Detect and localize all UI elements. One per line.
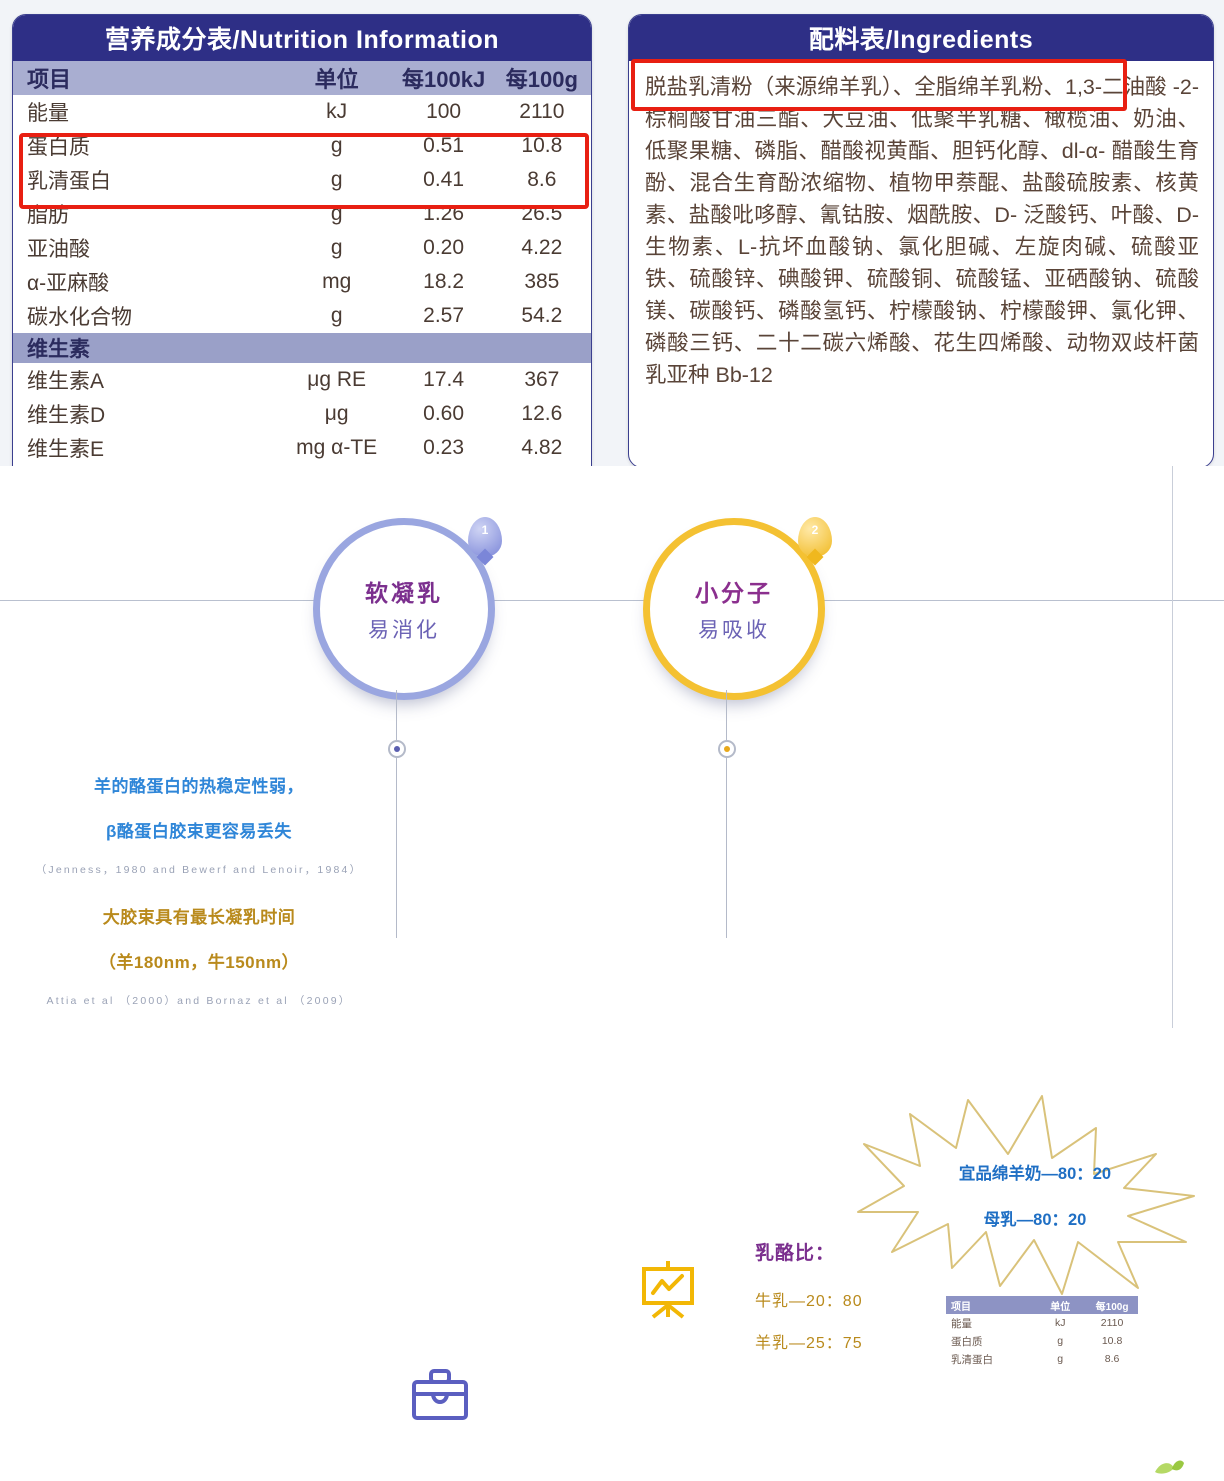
benefit-1-title: 软凝乳 [365,574,443,608]
stem-line-2 [726,690,727,744]
cell-item: 碳水化合物 [13,299,279,333]
research-citation-1: （Jenness，1980 and Bewerf and Lenoir，1984… [14,862,384,877]
cell-per100kj: 100 [394,95,492,129]
mini-table-header-row: 项目 单位 每100g [946,1296,1138,1314]
research-line-1: 羊的酪蛋白的热稳定性弱， [14,772,384,797]
pin-marker-2-number: 2 [812,523,819,537]
cell-per100kj: 17.4 [394,363,492,397]
cell-item: 脂肪 [13,197,279,231]
research-line-4: （羊180nm，牛150nm） [14,948,384,973]
mini-column-header-per100g: 每100g [1086,1296,1138,1314]
benefits-infographic-section: 软凝乳 易消化 1 小分子 易吸收 2 羊的酪蛋白的热稳定性弱， β酪蛋白胶束更… [0,466,1224,1028]
column-header-item: 项目 [13,61,279,95]
ingredients-panel: 配料表/Ingredients 脱盐乳清粉（来源绵羊乳）、全脂绵羊乳粉、1,3-… [628,14,1214,468]
mini-cell-item: 乳清蛋白 [946,1350,1034,1368]
starburst-text-group: 宜品绵羊奶—80：20 母乳—80：20 [856,1092,1196,1298]
research-text-block-left: 羊的酪蛋白的热稳定性弱， β酪蛋白胶束更容易丢失 （Jenness，1980 a… [14,772,384,1034]
benefit-ring-1: 软凝乳 易消化 1 [313,518,495,700]
nutrition-panel-title: 营养成分表/Nutrition Information [105,20,499,56]
cell-per100g: 2110 [493,95,591,129]
research-line-2: β酪蛋白胶束更容易丢失 [14,817,384,842]
nutrition-information-panel: 营养成分表/Nutrition Information 项目 单位 每100kJ… [12,14,592,468]
nutrition-table: 项目 单位 每100kJ 每100g 能量 kJ 100 2110 蛋白质 g … [13,61,591,468]
cell-unit: g [279,231,395,265]
benefit-2-title: 小分子 [695,574,773,608]
table-row: 亚油酸 g 0.20 4.22 [13,231,591,265]
column-header-per100g: 每100g [493,61,591,95]
pin-marker-1-number: 1 [482,523,489,537]
table-row: 能量 kJ 100 2110 [13,95,591,129]
starburst-line-breastmilk: 母乳—80：20 [984,1206,1087,1230]
cell-item: 维生素A [13,363,279,397]
table-row: 维生素E mg α-TE 0.23 4.82 [13,431,591,465]
stem-dot-1 [388,740,406,758]
cell-per100kj: 0.41 [394,163,492,197]
cell-per100g: 8.6 [493,163,591,197]
cell-per100kj: 0.51 [394,129,492,163]
briefcase-icon [408,1366,472,1429]
table-row: 碳水化合物 g 2.57 54.2 [13,299,591,333]
ingredients-list-text: 脱盐乳清粉（来源绵羊乳）、全脂绵羊乳粉、1,3-二油酸 -2- 棕榈酸甘油三酯、… [629,61,1213,391]
cell-per100kj: 0.60 [394,397,492,431]
cell-unit: g [279,129,395,163]
table-row: 脂肪 g 1.26 26.5 [13,197,591,231]
stem-line-1 [396,690,397,744]
cell-item: 乳清蛋白 [13,163,279,197]
cell-per100g: 4.82 [493,431,591,465]
cell-unit: kJ [279,95,395,129]
benefit-2-subtitle: 易吸收 [698,614,770,644]
mini-column-header-unit: 单位 [1034,1296,1086,1314]
cell-unit: μg [279,397,395,431]
cell-per100g: 4.22 [493,231,591,265]
mini-cell-item: 蛋白质 [946,1332,1034,1350]
leaf-watermark-icon [1152,1454,1186,1481]
cell-unit: g [279,163,395,197]
mini-cell-per100g: 10.8 [1086,1332,1138,1350]
nutrition-table-header-row: 项目 单位 每100kJ 每100g [13,61,591,95]
stem-line-1-lower [396,758,397,938]
vitamin-band-spacer-kj [394,333,492,363]
table-row: 乳清蛋白 g 0.41 8.6 [13,163,591,197]
stem-dot-2 [718,740,736,758]
presentation-chart-icon [637,1259,699,1326]
cell-unit: mg α-TE [279,431,395,465]
starburst-callout: 宜品绵羊奶—80：20 母乳—80：20 [856,1092,1196,1298]
cell-unit: g [279,197,395,231]
cell-per100g: 385 [493,265,591,299]
research-citation-2: Attia et al （2000）and Bornaz et al （2009… [14,993,384,1008]
mini-table-row: 蛋白质 g 10.8 [946,1332,1138,1350]
cell-item: 亚油酸 [13,231,279,265]
table-row: α-亚麻酸 mg 18.2 385 [13,265,591,299]
cell-per100kj: 18.2 [394,265,492,299]
cell-per100kj: 0.20 [394,231,492,265]
cell-unit: mg [279,265,395,299]
vitamin-band-spacer-g [493,333,591,363]
mini-cell-item: 能量 [946,1314,1034,1332]
mini-table-row: 能量 kJ 2110 [946,1314,1138,1332]
table-row: 维生素D μg 0.60 12.6 [13,397,591,431]
vitamin-section-band: 维生素 [13,333,591,363]
mini-table-row: 乳清蛋白 g 8.6 [946,1350,1138,1368]
cell-item: 维生素E [13,431,279,465]
nutrition-panel-title-bar: 营养成分表/Nutrition Information [13,15,591,61]
cell-item: 维生素D [13,397,279,431]
cell-per100g: 367 [493,363,591,397]
mini-cell-unit: kJ [1034,1314,1086,1332]
ratio-line-goat: 羊乳—25：75 [755,1329,935,1353]
research-line-3: 大胶束具有最长凝乳时间 [14,903,384,928]
cell-per100kj: 1.26 [394,197,492,231]
cell-per100g: 10.8 [493,129,591,163]
column-header-per100kj: 每100kJ [394,61,492,95]
cell-unit: μg RE [279,363,395,397]
cell-item: α-亚麻酸 [13,265,279,299]
pin-marker-1-icon: 1 [468,517,502,557]
mini-nutrition-table: 项目 单位 每100g 能量 kJ 2110 蛋白质 g 10.8 乳清蛋白 [946,1296,1138,1368]
ingredients-panel-title-bar: 配料表/Ingredients [629,15,1213,61]
cell-per100kj: 0.23 [394,431,492,465]
cell-item: 蛋白质 [13,129,279,163]
benefit-node-soft-curd[interactable]: 软凝乳 易消化 1 [313,518,495,700]
benefit-node-small-molecule[interactable]: 小分子 易吸收 2 [643,518,825,700]
cell-per100g: 26.5 [493,197,591,231]
cell-unit: g [279,299,395,333]
mini-column-header-item: 项目 [946,1296,1034,1314]
stem-line-2-lower [726,758,727,938]
label-panels-section: 营养成分表/Nutrition Information 项目 单位 每100kJ… [0,0,1224,466]
cell-per100kj: 2.57 [394,299,492,333]
benefit-1-subtitle: 易消化 [368,614,440,644]
column-header-unit: 单位 [279,61,395,95]
ingredients-panel-title: 配料表/Ingredients [809,20,1033,56]
vitamin-band-spacer-unit [279,333,395,363]
cell-item: 能量 [13,95,279,129]
mini-cell-per100g: 2110 [1086,1314,1138,1332]
cell-per100g: 54.2 [493,299,591,333]
mini-cell-unit: g [1034,1332,1086,1350]
mini-cell-unit: g [1034,1350,1086,1368]
starburst-line-brand: 宜品绵羊奶—80：20 [959,1160,1111,1184]
cell-per100g: 12.6 [493,397,591,431]
table-row: 蛋白质 g 0.51 10.8 [13,129,591,163]
pin-marker-2-icon: 2 [798,517,832,557]
horizontal-connector-line [0,600,1224,601]
table-row: 维生素A μg RE 17.4 367 [13,363,591,397]
vitamin-band-label: 维生素 [13,333,279,363]
vertical-divider-line-right [1172,466,1173,1028]
mini-cell-per100g: 8.6 [1086,1350,1138,1368]
benefit-ring-2: 小分子 易吸收 2 [643,518,825,700]
